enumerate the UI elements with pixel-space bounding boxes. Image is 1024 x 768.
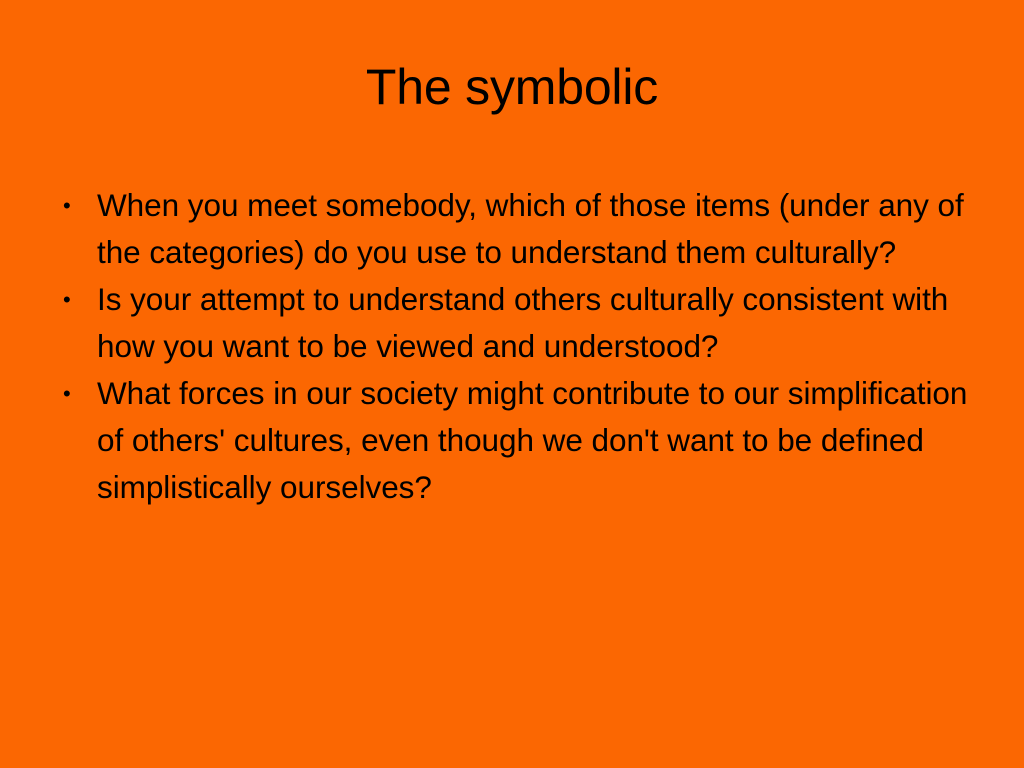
list-item: • What forces in our society might contr… [60,370,972,511]
bullet-point-icon: • [63,276,83,323]
bullet-item-text: What forces in our society might contrib… [97,370,972,511]
bullet-item-text: When you meet somebody, which of those i… [97,182,972,276]
bullet-item-text: Is your attempt to understand others cul… [97,276,972,370]
page-title: The symbolic [0,56,1024,118]
presentation-slide: The symbolic • When you meet somebody, w… [0,0,1024,768]
bullet-point-icon: • [63,370,83,417]
bullet-list: • When you meet somebody, which of those… [60,182,972,511]
list-item: • Is your attempt to understand others c… [60,276,972,370]
list-item: • When you meet somebody, which of those… [60,182,972,276]
bullet-point-icon: • [63,182,83,229]
